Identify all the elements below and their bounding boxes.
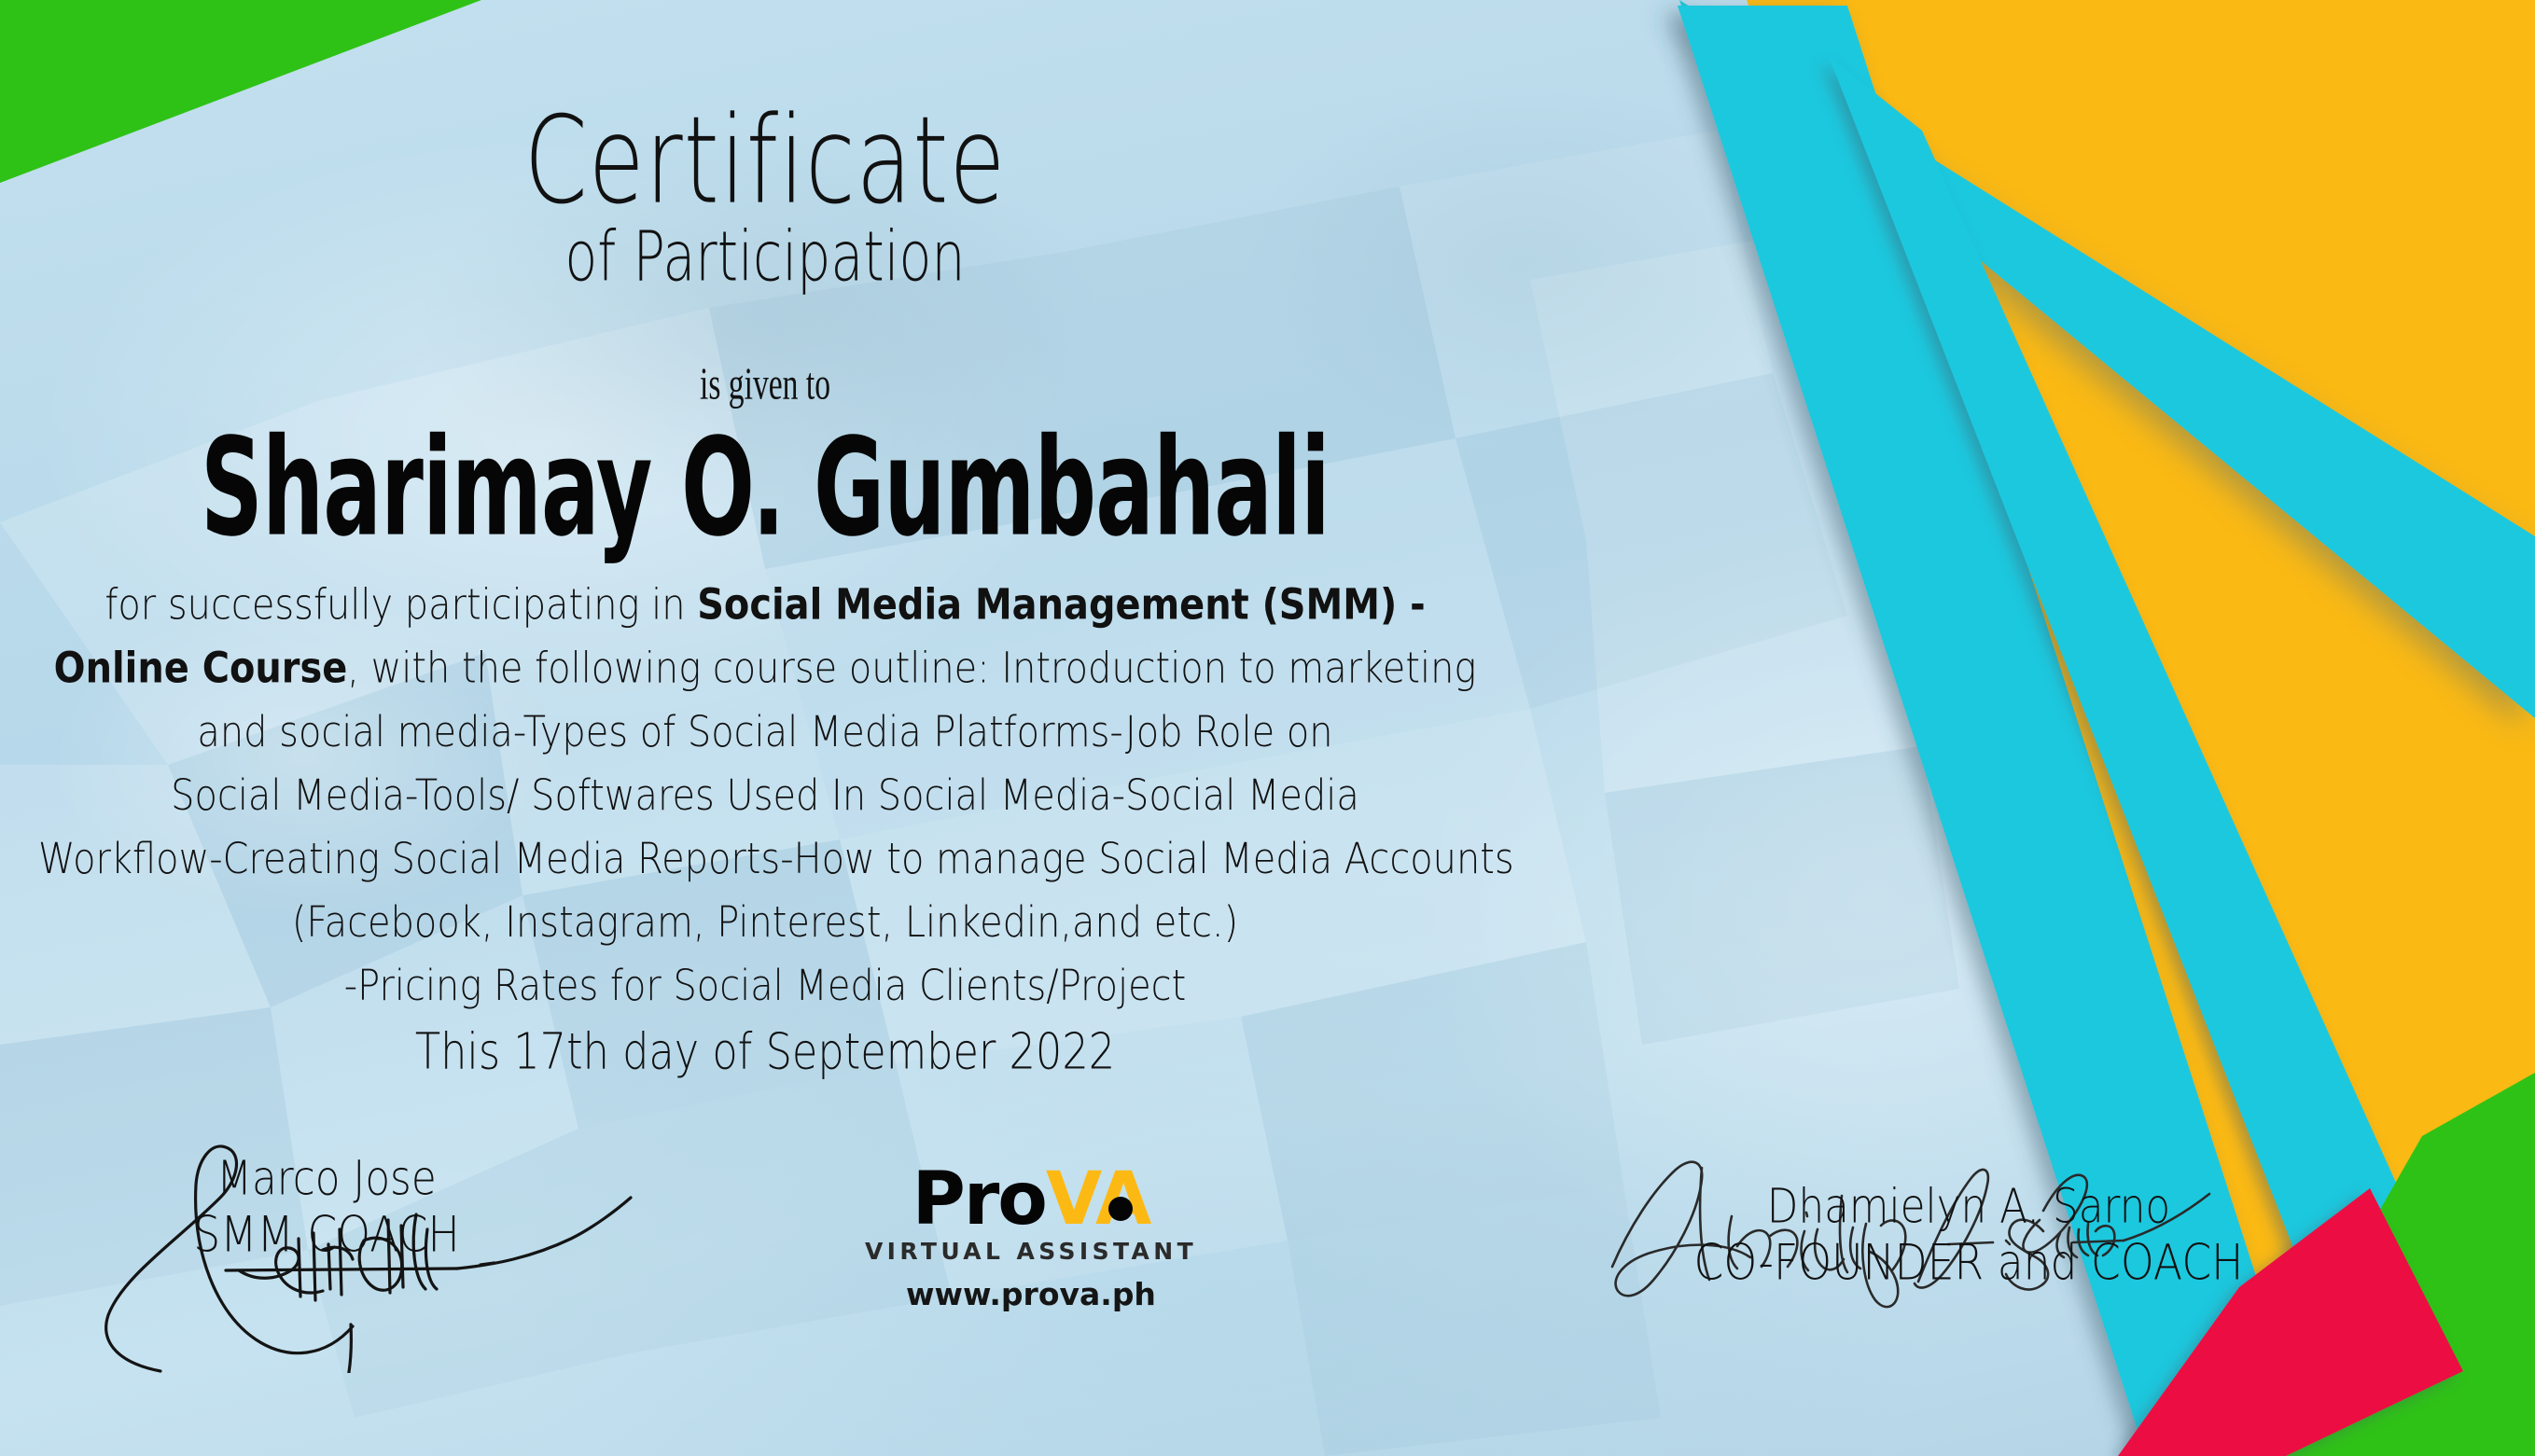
signature-role-right: CO-FOUNDER and COACH [1641, 1231, 2297, 1295]
signature-block-left: Marco Jose SMM COACH [37, 1147, 616, 1261]
body-line-1-bold: Social Media Management (SMM) - [697, 580, 1425, 630]
certificate-title-block: Certificate of Participation [0, 101, 1530, 280]
body-line-1-pre: for successfully participating in [104, 580, 697, 630]
body-line-7: -Pricing Rates for Social Media Clients/… [38, 953, 1492, 1017]
body-line-2-post: , with the following course outline: Int… [347, 644, 1476, 693]
body-line-3: and social media-Types of Social Media P… [38, 700, 1492, 763]
prova-logo-url: www.prova.ph [844, 1276, 1218, 1312]
prova-wordmark: ProVA [912, 1159, 1150, 1240]
body-line-2: Online Course, with the following course… [38, 636, 1492, 700]
recipient-name: Sharimay O. Gumbahali [107, 410, 1423, 567]
prova-logo: ProVA VIRTUAL ASSISTANT www.prova.ph [844, 1159, 1218, 1312]
signature-name-right: Dhamielyn A. Sarno [1641, 1175, 2297, 1237]
body-line-6: (Facebook, Instagram, Pinterest, Linkedi… [38, 890, 1492, 953]
body-line-1: for successfully participating in Social… [38, 573, 1492, 636]
certificate-canvas: Certificate of Participation is given to… [0, 0, 2535, 1456]
body-line-5: Workflow-Creating Social Media Reports-H… [38, 826, 1492, 890]
signature-block-right: Dhamielyn A. Sarno CO-FOUNDER and COACH [1623, 1175, 2314, 1289]
prova-logo-va: VA [1046, 1158, 1149, 1241]
body-line-4: Social Media-Tools/ Softwares Used In So… [38, 763, 1492, 826]
signature-name-left: Marco Jose [52, 1147, 602, 1209]
certificate-body-text: for successfully participating in Social… [38, 573, 1492, 1017]
certificate-title: Certificate [62, 101, 1469, 221]
given-to-label: is given to [153, 359, 1377, 410]
certificate-date: This 17th day of September 2022 [53, 1022, 1476, 1081]
signature-role-left: SMM COACH [52, 1203, 602, 1267]
certificate-subtitle: of Participation [62, 222, 1469, 291]
prova-logo-pro: Pro [912, 1158, 1046, 1241]
prova-logo-tagline: VIRTUAL ASSISTANT [844, 1238, 1218, 1265]
body-line-2-bold: Online Course [54, 644, 348, 693]
